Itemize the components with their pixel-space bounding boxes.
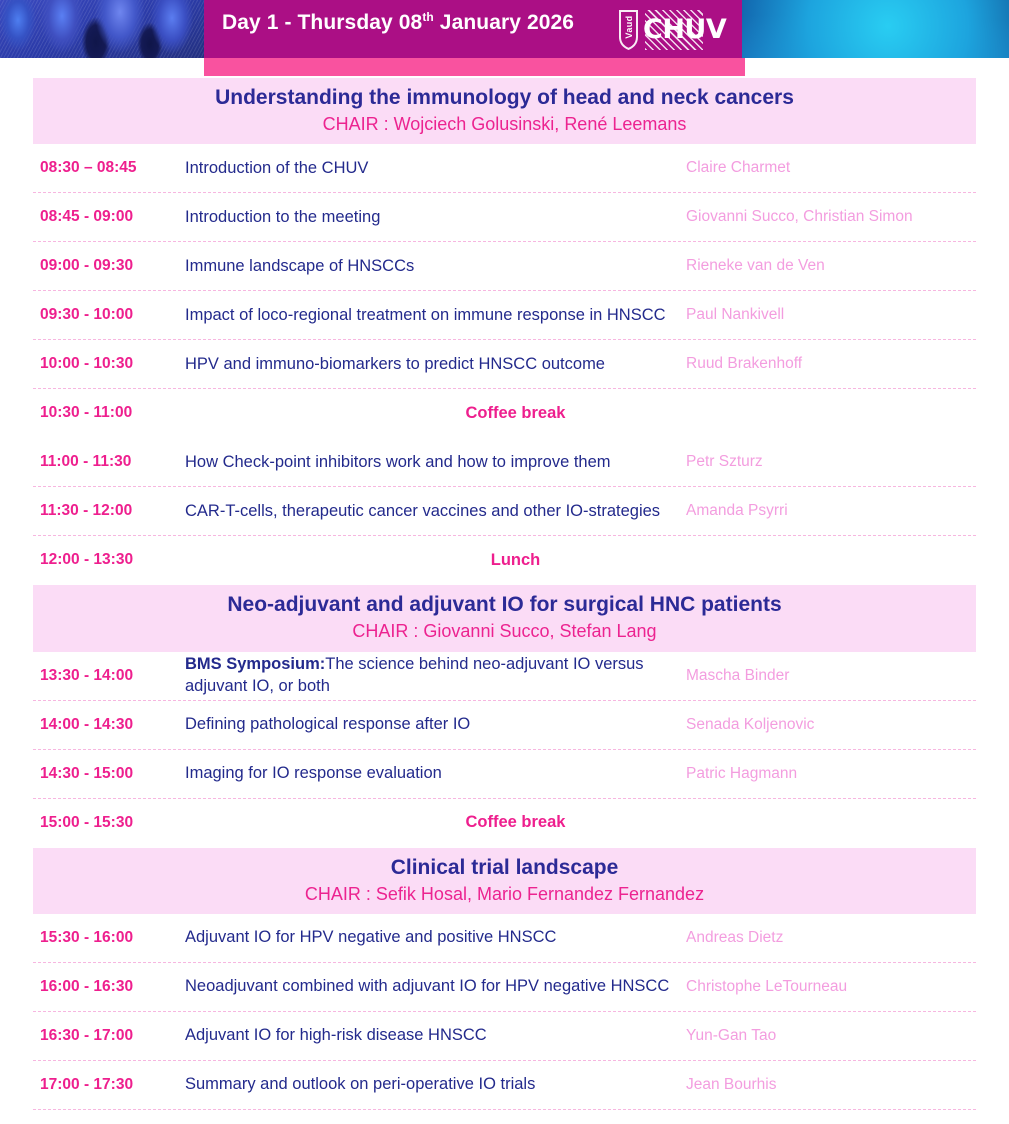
section-header: Neo-adjuvant and adjuvant IO for surgica… [33,585,976,651]
break-row: 15:00 - 15:30Coffee break [33,799,976,848]
session-topic: HPV and immuno-biomarkers to predict HNS… [185,354,686,376]
session-speaker: Mascha Binder [686,666,976,686]
day-title: Day 1 - Thursday 08th January 2026 [222,11,574,35]
session-speaker: Andreas Dietz [686,928,976,948]
section-title: Understanding the immunology of head and… [33,84,976,112]
day-title-ordinal: th [422,10,434,24]
break-row: 12:00 - 13:30Lunch [33,536,976,585]
session-topic: Neoadjuvant combined with adjuvant IO fo… [185,976,686,998]
section-title: Clinical trial landscape [33,854,976,882]
session-topic: Immune landscape of HNSCCs [185,256,686,278]
section-title: Neo-adjuvant and adjuvant IO for surgica… [33,591,976,619]
session-speaker: Amanda Psyrri [686,501,976,521]
session-row: 14:30 - 15:00Imaging for IO response eva… [33,750,976,799]
session-speaker: Senada Koljenovic [686,715,976,735]
session-topic-emphasis: BMS Symposium: [185,655,325,673]
session-topic: BMS Symposium:The science behind neo-adj… [185,654,686,698]
session-speaker: Rieneke van de Ven [686,256,976,276]
banner-microscopy-texture [0,0,206,58]
break-label: Coffee break [55,403,976,425]
session-topic: CAR-T-cells, therapeutic cancer vaccines… [185,501,686,523]
session-time: 13:30 - 14:00 [33,667,185,685]
session-row: 17:00 - 17:30Summary and outlook on peri… [33,1061,976,1110]
session-row: 16:30 - 17:00Adjuvant IO for high-risk d… [33,1012,976,1061]
session-speaker: Paul Nankivell [686,305,976,325]
session-time: 16:00 - 16:30 [33,978,185,996]
session-speaker: Giovanni Succo, Christian Simon [686,207,976,227]
section-chair: CHAIR : Wojciech Golusinski, René Leeman… [33,113,976,137]
session-time: 08:30 – 08:45 [33,159,185,177]
session-speaker: Patric Hagmann [686,764,976,784]
session-row: 09:30 - 10:00Impact of loco-regional tre… [33,291,976,340]
session-topic: Imaging for IO response evaluation [185,763,686,785]
session-topic: Defining pathological response after IO [185,714,686,736]
session-topic: Introduction to the meeting [185,207,686,229]
section-header: Understanding the immunology of head and… [33,78,976,144]
session-row: 14:00 - 14:30Defining pathological respo… [33,701,976,750]
session-row: 11:30 - 12:00CAR-T-cells, therapeutic ca… [33,487,976,536]
section-chair: CHAIR : Giovanni Succo, Stefan Lang [33,620,976,644]
session-time: 08:45 - 09:00 [33,208,185,226]
chuv-brand-text: CHUV [643,16,741,43]
session-speaker: Claire Charmet [686,158,976,178]
session-speaker: Yun-Gan Tao [686,1026,976,1046]
session-time: 16:30 - 17:00 [33,1027,185,1045]
session-speaker: Ruud Brakenhoff [686,354,976,374]
session-time: 11:00 - 11:30 [33,453,185,471]
session-time: 10:00 - 10:30 [33,355,185,373]
session-topic: Summary and outlook on peri-operative IO… [185,1074,686,1096]
section-chair: CHAIR : Sefik Hosal, Mario Fernandez Fer… [33,883,976,907]
schedule-table: Understanding the immunology of head and… [0,78,1009,1110]
session-time: 14:30 - 15:00 [33,765,185,783]
session-row: 15:30 - 16:00Adjuvant IO for HPV negativ… [33,914,976,963]
session-speaker: Petr Szturz [686,452,976,472]
header-banner: Day 1 - Thursday 08th January 2026 Vaud … [0,0,1009,78]
day-title-main: Day 1 - Thursday 08 [222,11,422,34]
session-topic: Adjuvant IO for HPV negative and positiv… [185,927,686,949]
vaud-shield-label: Vaud [624,10,634,44]
chuv-logo: Vaud CHUV [619,8,741,52]
session-time: 09:00 - 09:30 [33,257,185,275]
session-time: 09:30 - 10:00 [33,306,185,324]
session-row: 13:30 - 14:00BMS Symposium:The science b… [33,652,976,701]
session-topic: How Check-point inhibitors work and how … [185,452,686,474]
session-topic: Introduction of the CHUV [185,158,686,180]
session-row: 08:30 – 08:45Introduction of the CHUVCla… [33,144,976,193]
session-time: 11:30 - 12:00 [33,502,185,520]
session-speaker: Christophe LeTourneau [686,977,976,997]
session-row: 10:00 - 10:30HPV and immuno-biomarkers t… [33,340,976,389]
chuv-wordmark: CHUV [643,8,741,52]
session-row: 11:00 - 11:30How Check-point inhibitors … [33,438,976,487]
session-speaker: Jean Bourhis [686,1075,976,1095]
session-time: 14:00 - 14:30 [33,716,185,734]
session-topic: Adjuvant IO for high-risk disease HNSCC [185,1025,686,1047]
session-row: 09:00 - 09:30Immune landscape of HNSCCsR… [33,242,976,291]
session-time: 15:30 - 16:00 [33,929,185,947]
session-topic: Impact of loco-regional treatment on imm… [185,305,686,327]
day-title-rest: January 2026 [434,11,574,34]
session-row: 16:00 - 16:30Neoadjuvant combined with a… [33,963,976,1012]
section-header: Clinical trial landscapeCHAIR : Sefik Ho… [33,848,976,914]
break-label: Lunch [55,550,976,572]
break-label: Coffee break [55,812,976,834]
session-time: 17:00 - 17:30 [33,1076,185,1094]
break-row: 10:30 - 11:00Coffee break [33,389,976,438]
session-row: 08:45 - 09:00Introduction to the meeting… [33,193,976,242]
banner-pink-strip [204,58,745,76]
